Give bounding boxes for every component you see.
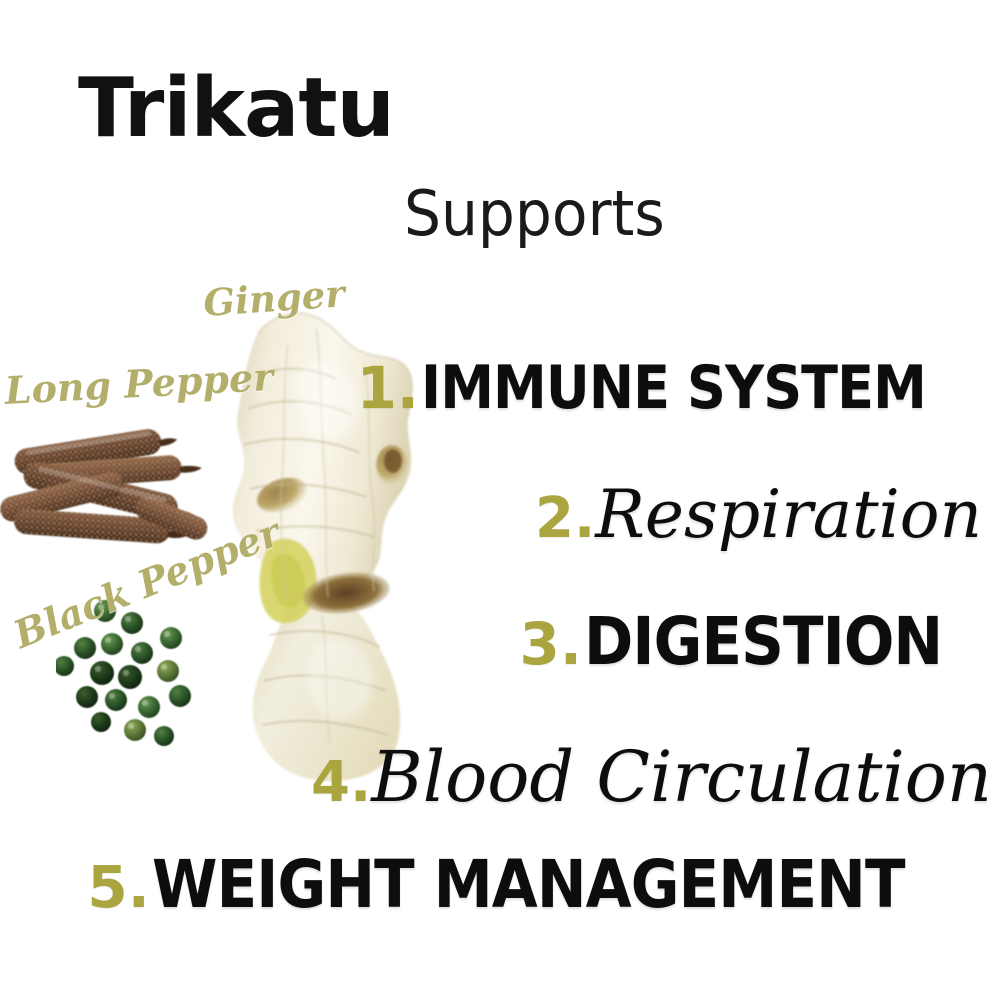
benefit-text-5: WEIGHT MANAGEMENT — [152, 852, 905, 918]
trikatu-infographic-poster: Trikatu Supports Ginger Long Pepper Blac… — [0, 0, 1000, 1000]
benefit-item-immune-system: 1. IMMUNE SYSTEM — [357, 358, 982, 418]
benefit-item-weight-management: 5. WEIGHT MANAGEMENT — [87, 852, 988, 918]
benefit-text-4: Blood Circulation — [371, 742, 992, 812]
benefit-item-blood-circulation: 4. Blood Circulation — [311, 742, 992, 812]
benefit-item-respiration: 2. Respiration — [535, 482, 982, 548]
benefits-list: 1. IMMUNE SYSTEM 2. Respiration 3. DIGES… — [0, 0, 1000, 1000]
benefit-number-4: 4. — [311, 755, 371, 811]
benefit-number-2: 2. — [535, 491, 595, 547]
benefit-number-1: 1. — [357, 359, 419, 417]
benefit-number-3: 3. — [520, 615, 582, 673]
benefit-text-2: Respiration — [595, 482, 982, 548]
benefit-text-1: IMMUNE SYSTEM — [421, 358, 926, 418]
benefit-item-digestion: 3. DIGESTION — [520, 609, 982, 675]
benefit-text-3: DIGESTION — [584, 609, 942, 675]
benefit-number-5: 5. — [87, 858, 149, 916]
